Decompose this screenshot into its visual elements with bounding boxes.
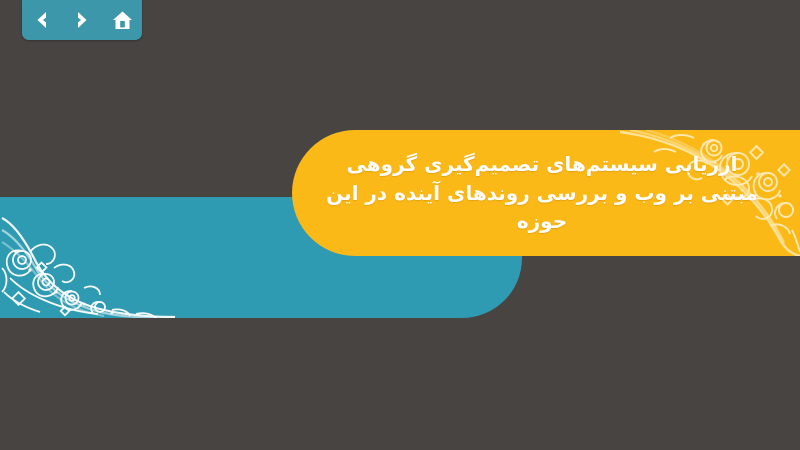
orange-title-banner: ارزیابی سیستم‌های تصمیم‌گیری گروهی مبتنی… [292, 130, 800, 256]
forward-icon [72, 10, 92, 30]
title-line-3: حوزه [517, 207, 567, 235]
back-button[interactable] [27, 7, 57, 33]
back-icon [32, 10, 52, 30]
slide-canvas: ارزیابی سیستم‌های تصمیم‌گیری گروهی مبتنی… [0, 0, 800, 450]
forward-button[interactable] [67, 7, 97, 33]
slide-title: ارزیابی سیستم‌های تصمیم‌گیری گروهی مبتنی… [292, 130, 800, 256]
navigation-bar [22, 0, 142, 40]
home-button[interactable] [107, 7, 137, 33]
title-line-1: ارزیابی سیستم‌های تصمیم‌گیری گروهی [347, 150, 738, 178]
home-icon [112, 10, 133, 31]
arabesque-corner-filigree-icon [0, 208, 175, 318]
title-line-2: مبتنی بر وب و بررسی روندهای آینده در این [326, 179, 758, 207]
